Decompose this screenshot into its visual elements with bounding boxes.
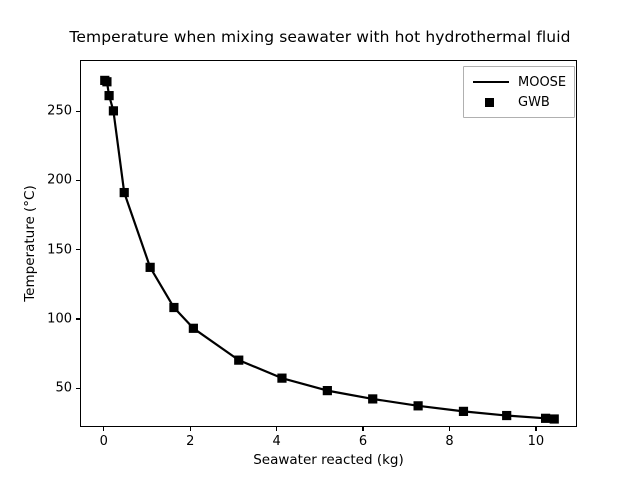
y-tick-mark xyxy=(76,318,80,319)
data-point-marker xyxy=(234,356,243,365)
x-tick-mark xyxy=(276,427,277,431)
y-axis-label: Temperature (°C) xyxy=(22,60,38,427)
series-line-moose xyxy=(105,80,554,419)
legend-label-moose: MOOSE xyxy=(511,75,566,90)
y-tick-label: 100 xyxy=(12,311,72,326)
series-markers-gwb xyxy=(100,76,559,424)
data-point-marker xyxy=(323,386,332,395)
legend-item-moose: MOOSE xyxy=(471,72,566,92)
data-point-marker xyxy=(189,324,198,333)
legend-line-swatch xyxy=(471,73,511,91)
chart-title: Temperature when mixing seawater with ho… xyxy=(0,28,640,46)
chart-legend: MOOSE GWB xyxy=(463,66,575,118)
x-tick-label: 0 xyxy=(84,434,124,449)
data-point-marker xyxy=(414,401,423,410)
data-point-marker xyxy=(502,411,511,420)
data-point-marker xyxy=(104,91,113,100)
x-tick-mark xyxy=(362,427,363,431)
y-tick-label: 200 xyxy=(12,173,72,188)
x-tick-mark xyxy=(190,427,191,431)
data-point-marker xyxy=(120,188,129,197)
y-tick-label: 250 xyxy=(12,104,72,119)
y-tick-label: 50 xyxy=(12,381,72,396)
data-point-marker xyxy=(102,77,111,86)
data-point-marker xyxy=(277,374,286,383)
data-point-marker xyxy=(541,414,550,423)
x-tick-mark xyxy=(103,427,104,431)
y-tick-mark xyxy=(76,180,80,181)
y-tick-label: 150 xyxy=(12,242,72,257)
x-tick-mark xyxy=(535,427,536,431)
x-axis-label: Seawater reacted (kg) xyxy=(80,452,577,468)
x-tick-mark xyxy=(449,427,450,431)
y-tick-mark xyxy=(76,111,80,112)
data-point-marker xyxy=(550,414,559,423)
x-tick-label: 8 xyxy=(430,434,470,449)
data-point-marker xyxy=(169,303,178,312)
y-tick-mark xyxy=(76,388,80,389)
x-tick-label: 4 xyxy=(257,434,297,449)
x-tick-label: 6 xyxy=(343,434,383,449)
data-point-marker xyxy=(109,106,118,115)
chart-figure: Temperature when mixing seawater with ho… xyxy=(0,0,640,480)
x-tick-label: 2 xyxy=(170,434,210,449)
x-tick-label: 10 xyxy=(516,434,556,449)
y-tick-mark xyxy=(76,249,80,250)
legend-square-swatch xyxy=(471,93,511,111)
data-point-marker xyxy=(368,394,377,403)
data-point-marker xyxy=(459,407,468,416)
legend-item-gwb: GWB xyxy=(471,92,566,112)
data-point-marker xyxy=(146,263,155,272)
legend-label-gwb: GWB xyxy=(511,95,550,110)
